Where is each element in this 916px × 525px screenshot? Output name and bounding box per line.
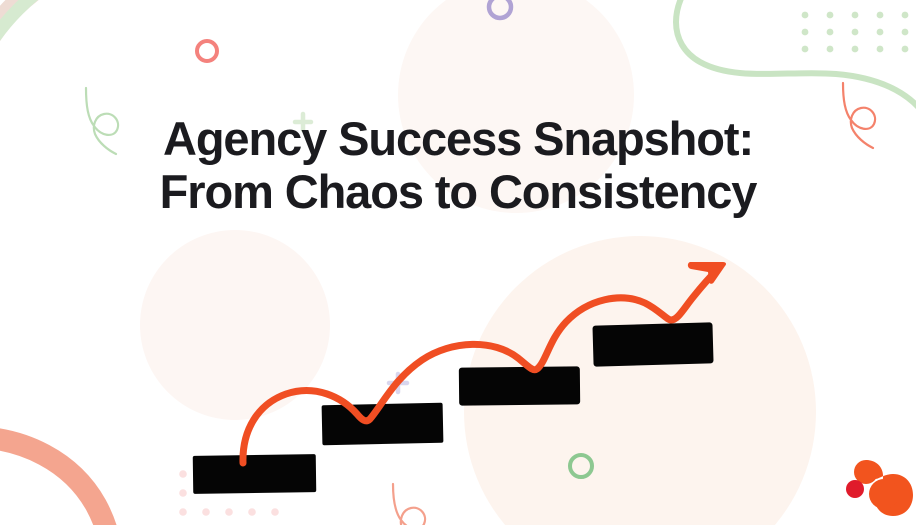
pale-peach-circle-right bbox=[464, 236, 816, 525]
page-title-line-1: Agency Success Snapshot: bbox=[0, 112, 916, 165]
pale-pink-circle-left bbox=[140, 230, 330, 420]
background-decor-layer bbox=[0, 0, 916, 525]
slide-canvas: Agency Success Snapshot: From Chaos to C… bbox=[0, 0, 916, 525]
page-title: Agency Success Snapshot: From Chaos to C… bbox=[0, 112, 916, 218]
page-title-line-2: From Chaos to Consistency bbox=[0, 165, 916, 218]
